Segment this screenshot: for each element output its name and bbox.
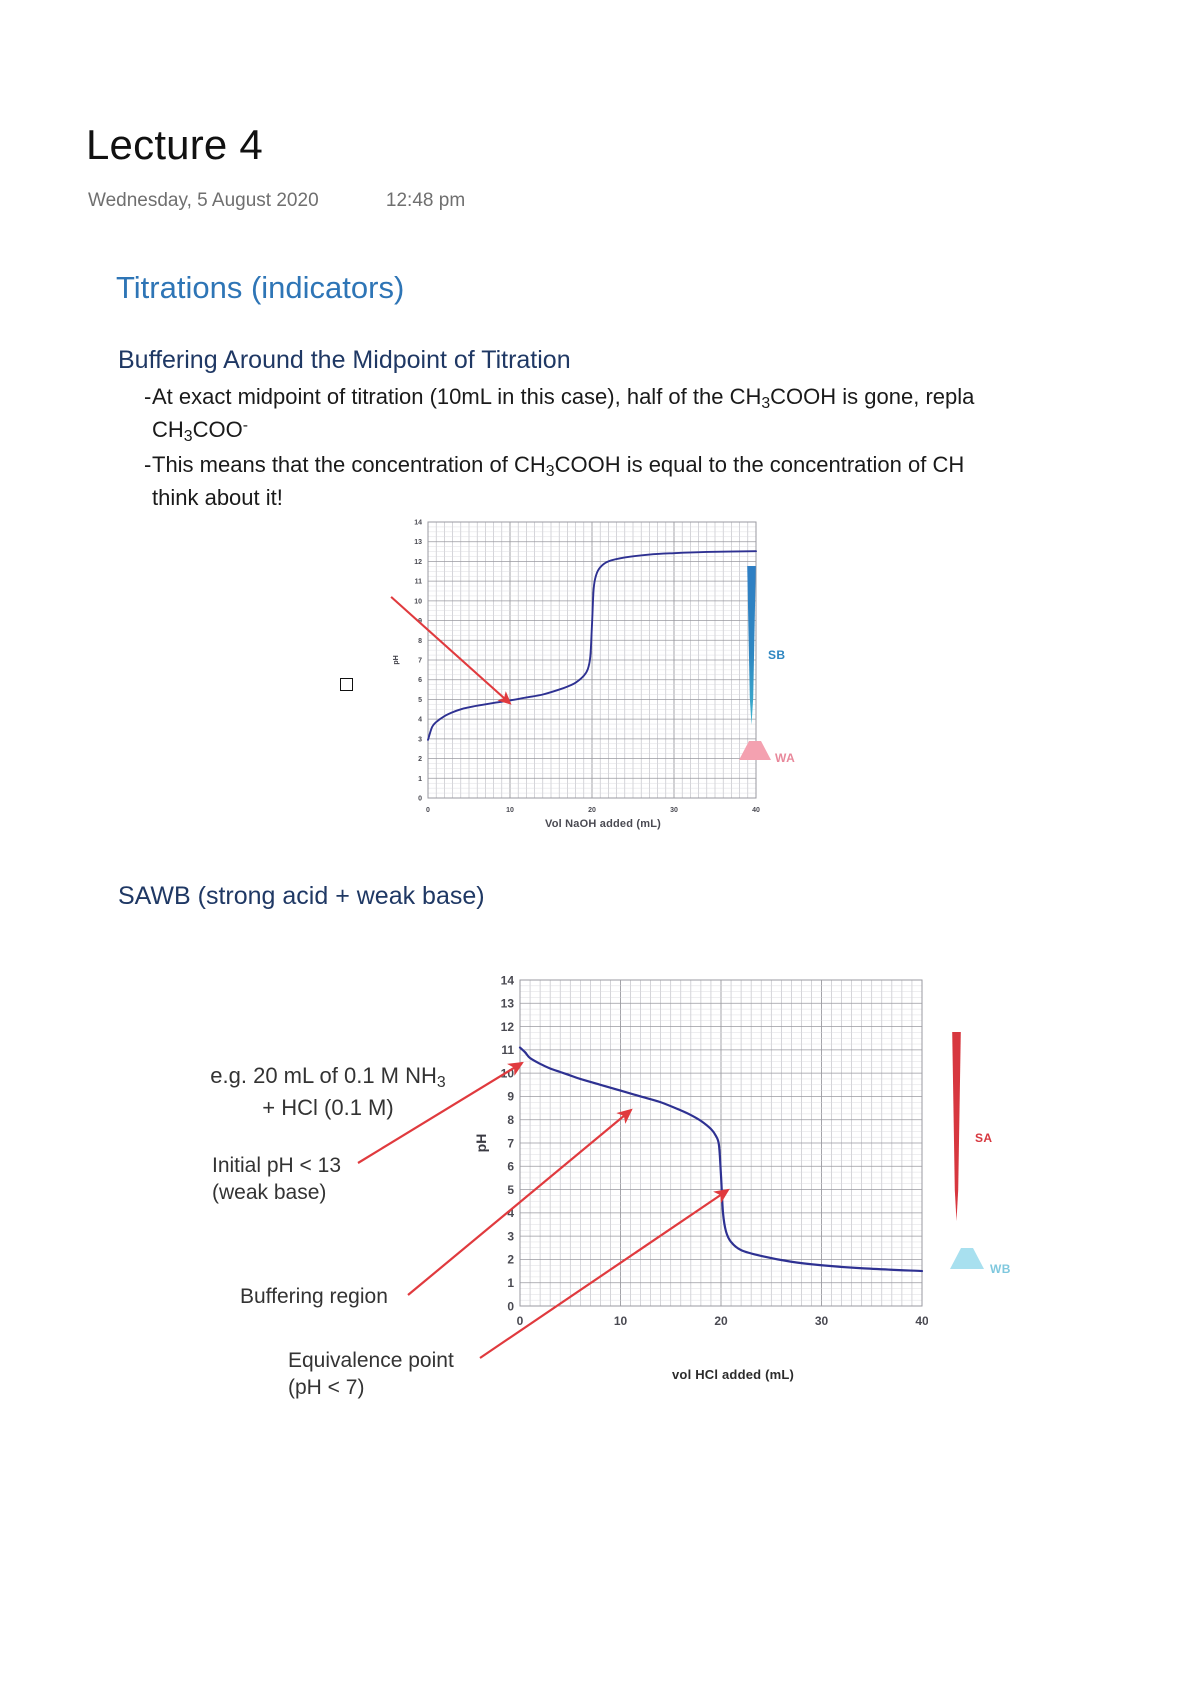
bullet-text-cont: COOH is gone, repla (770, 384, 974, 409)
svg-text:4: 4 (507, 1206, 514, 1220)
svg-text:10: 10 (506, 807, 514, 814)
annotation-equivalence-line2: (pH < 7) (288, 1376, 364, 1399)
bullet-text: This means that the concentration of CH (152, 452, 546, 477)
chart1-legend-wa-label: WA (775, 751, 795, 765)
subscript: 3 (546, 463, 555, 480)
svg-text:7: 7 (418, 658, 422, 665)
annotation-initial-ph: Initial pH < 13 (weak base) (212, 1152, 341, 1207)
svg-text:2: 2 (507, 1253, 514, 1267)
wa-flask-icon (738, 741, 772, 761)
svg-text:8: 8 (507, 1113, 514, 1127)
annotation-equivalence-line1: Equivalence point (288, 1349, 454, 1372)
svg-text:0: 0 (418, 796, 422, 803)
sb-burette-icon (746, 566, 757, 726)
svg-text:40: 40 (752, 807, 760, 814)
wb-flask-icon (949, 1248, 985, 1270)
svg-text:30: 30 (815, 1314, 829, 1328)
svg-text:6: 6 (418, 677, 422, 684)
svg-text:7: 7 (507, 1136, 514, 1150)
svg-text:pH: pH (473, 1134, 489, 1153)
svg-text:9: 9 (507, 1090, 514, 1104)
bullet-text-cont: COOH is equal to the concentration of CH (555, 452, 965, 477)
svg-text:11: 11 (501, 1043, 514, 1057)
chart-titration-wa-sb: 01234567891011121314010203040pH (384, 512, 764, 842)
svg-text:6: 6 (507, 1160, 514, 1174)
chart1-legend-sb-label: SB (768, 648, 785, 662)
bullet-text-line2: CH (152, 417, 184, 442)
chart1-gridlines (428, 522, 756, 798)
svg-text:0: 0 (507, 1299, 514, 1313)
svg-text:10: 10 (614, 1314, 628, 1328)
annotation-example: e.g. 20 mL of 0.1 M NH3 + HCl (0.1 M) (178, 1062, 478, 1122)
svg-text:0: 0 (517, 1314, 524, 1328)
bullet-text-line2b: COO (193, 417, 243, 442)
svg-text:30: 30 (670, 807, 678, 814)
document-time: 12:48 pm (386, 190, 465, 212)
svg-text:14: 14 (414, 520, 422, 527)
svg-text:8: 8 (418, 638, 422, 645)
svg-text:11: 11 (415, 579, 423, 586)
chart2-xaxis-label: vol HCl added (mL) (672, 1367, 794, 1382)
svg-text:4: 4 (418, 717, 422, 724)
empty-square-bullet-glyph (340, 678, 353, 691)
annotation-buffering-region: Buffering region (240, 1283, 388, 1310)
list-item: - At exact midpoint of titration (10mL i… (118, 382, 1200, 448)
svg-text:10: 10 (414, 598, 422, 605)
subheading-buffering-midpoint: Buffering Around the Midpoint of Titrati… (118, 346, 571, 375)
subscript: 3 (437, 1074, 446, 1091)
bullet-text: At exact midpoint of titration (10mL in … (152, 384, 761, 409)
bullet-dash: - (118, 450, 152, 513)
bullet-dash: - (118, 382, 152, 448)
chart2-legend-sa-label: SA (975, 1131, 992, 1145)
document-meta: Wednesday, 5 August 2020 12:48 pm (88, 190, 465, 212)
annotation-initial-ph-line1: Initial pH < 13 (212, 1154, 341, 1177)
svg-text:5: 5 (507, 1183, 514, 1197)
chart2-gridlines (520, 980, 922, 1306)
section-heading-titrations: Titrations (indicators) (116, 270, 404, 306)
svg-text:20: 20 (714, 1314, 728, 1328)
annotation-equivalence-point: Equivalence point (pH < 7) (288, 1347, 454, 1402)
chart1-xaxis-label: Vol NaOH added (mL) (545, 818, 661, 830)
page-title: Lecture 4 (86, 124, 263, 166)
svg-text:5: 5 (418, 697, 422, 704)
svg-text:0: 0 (426, 807, 430, 814)
svg-text:20: 20 (588, 807, 596, 814)
chart2-legend-wb-label: WB (990, 1262, 1011, 1276)
svg-text:10: 10 (501, 1066, 515, 1080)
annotation-initial-ph-line2: (weak base) (212, 1181, 326, 1204)
svg-text:3: 3 (418, 736, 422, 743)
annotation-example-line1: e.g. 20 mL of 0.1 M NH (210, 1063, 437, 1088)
svg-text:14: 14 (501, 973, 515, 987)
svg-text:12: 12 (414, 559, 422, 566)
svg-text:12: 12 (501, 1020, 515, 1034)
annotation-example-line2: + HCl (0.1 M) (262, 1095, 393, 1120)
svg-text:13: 13 (414, 539, 422, 546)
svg-text:1: 1 (418, 776, 422, 783)
superscript-minus: - (243, 417, 248, 434)
subscript: 3 (184, 428, 193, 445)
subscript: 3 (761, 395, 770, 412)
chart2-annotation-arrows (0, 0, 1200, 1698)
svg-text:13: 13 (501, 997, 515, 1011)
sa-burette-icon (951, 1032, 962, 1222)
svg-text:pH: pH (393, 655, 400, 664)
chart1-tick-labels: 01234567891011121314010203040pH (393, 520, 760, 814)
subheading-sawb: SAWB (strong acid + weak base) (118, 882, 485, 911)
document-date: Wednesday, 5 August 2020 (88, 190, 319, 212)
chart-titration-sa-wb: 01234567891011121314010203040pH (468, 968, 928, 1358)
bullet-list-buffering: - At exact midpoint of titration (10mL i… (118, 382, 1200, 515)
list-item: - This means that the concentration of C… (118, 450, 1200, 513)
svg-text:40: 40 (915, 1314, 928, 1328)
bullet-text-line2: think about it! (152, 483, 1200, 513)
svg-text:3: 3 (507, 1229, 514, 1243)
svg-text:1: 1 (507, 1276, 514, 1290)
document-page: Lecture 4 Wednesday, 5 August 2020 12:48… (0, 0, 1200, 1698)
svg-text:2: 2 (418, 756, 422, 763)
